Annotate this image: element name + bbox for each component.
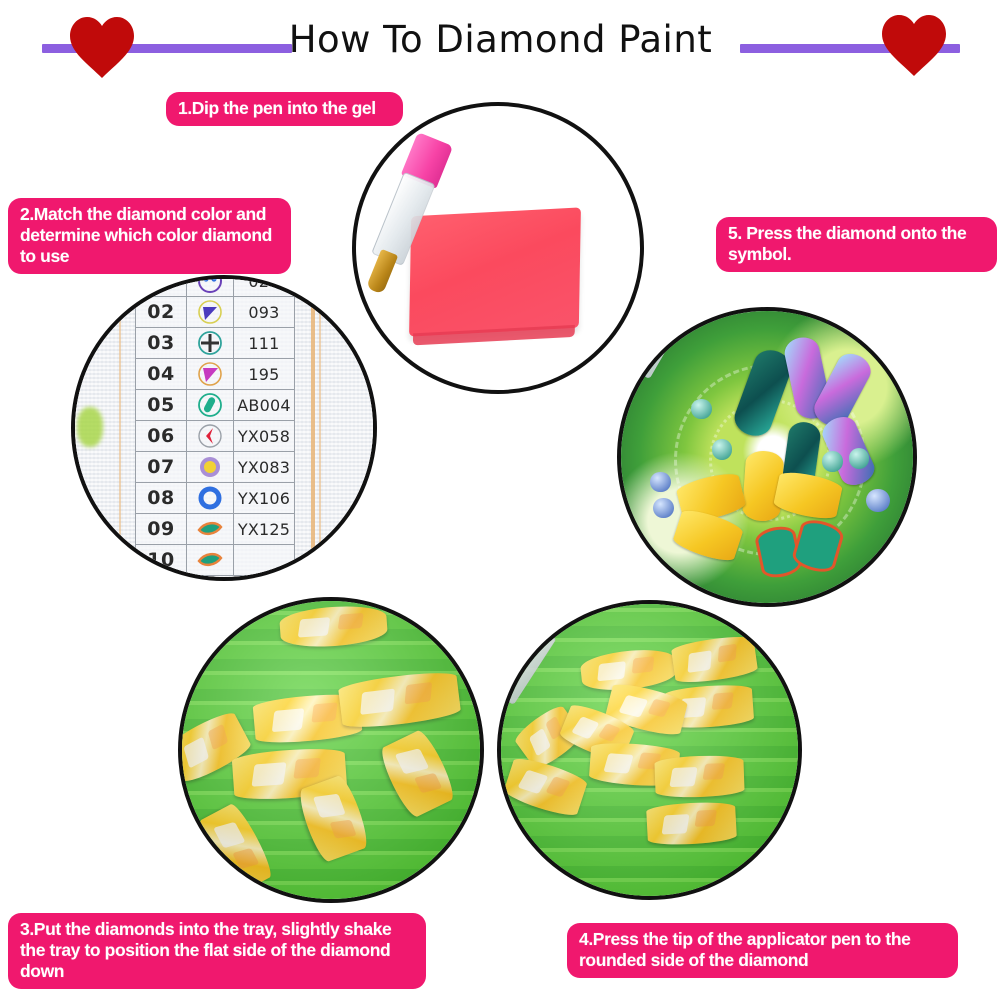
legend-code-cell: YX058 — [234, 421, 295, 452]
diagonal-bar-circle-icon — [197, 392, 223, 418]
symbol-legend-table: 0102802093031110419505AB00406YX05807YX08… — [135, 275, 295, 576]
gem-dot — [822, 451, 842, 471]
gel-scene — [356, 106, 640, 390]
gel-pad — [409, 207, 581, 336]
teal-leaf-icon — [197, 547, 223, 573]
step-3-label: 3.Put the diamonds into the tray, slight… — [8, 913, 426, 989]
canvas-green-smudge — [77, 407, 103, 447]
legend-code-cell: AB004 — [234, 390, 295, 421]
legend-code-cell: 195 — [234, 359, 295, 390]
gem-dot — [650, 472, 670, 492]
diamond — [178, 708, 254, 786]
pen-picking-up-diamond-photo — [497, 600, 802, 900]
pen-body — [497, 622, 556, 705]
left-chevron-circle-icon — [187, 421, 234, 452]
diamond — [252, 692, 363, 746]
infographic-stage: How To Diamond Paint 0102802093031110419… — [0, 0, 1001, 1001]
legend-code-cell: 028 — [234, 275, 295, 297]
yellow-dot-purple-ring-icon — [187, 452, 234, 483]
legend-row: 01028 — [136, 275, 295, 297]
legend-row: 09YX125 — [136, 514, 295, 545]
legend-row: 08YX106 — [136, 483, 295, 514]
legend-number-cell: 02 — [136, 297, 187, 328]
legend-row: 03111 — [136, 328, 295, 359]
legend-number-cell: 01 — [136, 275, 187, 297]
diamond — [337, 668, 461, 730]
diamonds-in-tray-photo — [178, 597, 484, 903]
step-4-label: 4.Press the tip of the applicator pen to… — [567, 923, 958, 978]
legend-code-cell: YX125 — [234, 514, 295, 545]
legend-number-cell: 08 — [136, 483, 187, 514]
diamond — [512, 702, 586, 772]
legend-number-cell: 06 — [136, 421, 187, 452]
diamond — [579, 646, 677, 694]
magenta-triangle-circle-icon — [197, 361, 223, 387]
filled-triangle-circle-icon — [197, 299, 223, 325]
smiley-face-circle-icon — [197, 275, 223, 294]
legend-row: 06YX058 — [136, 421, 295, 452]
legend-row: 04195 — [136, 359, 295, 390]
diamond — [604, 680, 689, 738]
diamond — [646, 800, 737, 845]
legend-number-cell: 09 — [136, 514, 187, 545]
legend-code-cell: YX106 — [234, 483, 295, 514]
legend-number-cell: 05 — [136, 390, 187, 421]
legend-code-cell: YX083 — [234, 452, 295, 483]
gem-dot — [712, 439, 732, 459]
page-title: How To Diamond Paint — [0, 18, 1001, 61]
chart-orange-edge-line — [319, 279, 321, 577]
teal-leaf-icon — [197, 516, 223, 542]
symbol-color-chart-photo: 0102802093031110419505AB00406YX05807YX08… — [71, 275, 377, 581]
pen-tip — [617, 363, 648, 402]
gem-dot — [691, 399, 711, 419]
pen-dipping-into-gel-photo — [352, 102, 644, 394]
diagonal-bar-circle-icon — [187, 390, 234, 421]
legend-code-cell — [234, 545, 295, 576]
plus-cross-circle-icon — [187, 328, 234, 359]
legend-row: 05AB004 — [136, 390, 295, 421]
chart-margin-line — [119, 279, 121, 577]
mandala-canvas-scene — [621, 311, 913, 603]
diamond — [279, 603, 389, 649]
legend-row: 02093 — [136, 297, 295, 328]
step-2-label: 2.Match the diamond color and determine … — [8, 198, 291, 274]
legend-code-cell: 111 — [234, 328, 295, 359]
magenta-triangle-circle-icon — [187, 359, 234, 390]
diamond — [671, 633, 759, 685]
chart-scene: 0102802093031110419505AB00406YX05807YX08… — [75, 279, 373, 577]
pressing-diamond-onto-canvas-photo — [617, 307, 917, 607]
yellow-dot-purple-ring-icon — [197, 454, 223, 480]
legend-row: 07YX083 — [136, 452, 295, 483]
diamond — [558, 701, 637, 764]
step-5-label: 5. Press the diamond onto the symbol. — [716, 217, 997, 272]
legend-number-cell: 10 — [136, 545, 187, 576]
diamond — [296, 773, 373, 864]
filled-triangle-circle-icon — [187, 297, 234, 328]
gem-dot — [653, 498, 673, 518]
teal-leaf-icon — [187, 545, 234, 576]
diamond — [589, 741, 681, 788]
tray-scene — [501, 604, 798, 896]
plus-cross-circle-icon — [197, 330, 223, 356]
teal-leaf-icon — [187, 514, 234, 545]
gem-dot — [849, 448, 869, 468]
diamond — [663, 683, 755, 730]
blue-donut-icon — [197, 485, 223, 511]
blue-donut-icon — [187, 483, 234, 514]
diamond — [502, 754, 589, 820]
left-chevron-circle-icon — [197, 423, 223, 449]
chart-orange-edge-line — [311, 279, 315, 577]
step-1-label: 1.Dip the pen into the gel — [166, 92, 403, 126]
pen-tip — [497, 686, 512, 727]
legend-number-cell: 04 — [136, 359, 187, 390]
diamond — [195, 800, 276, 896]
legend-number-cell: 03 — [136, 328, 187, 359]
diamond — [231, 746, 347, 801]
header-band: How To Diamond Paint — [0, 0, 1001, 78]
tray-scene — [182, 601, 480, 899]
diamond — [376, 727, 458, 820]
legend-row: 10 — [136, 545, 295, 576]
canvas-teal-symbol — [79, 517, 107, 543]
gem-dot — [866, 489, 889, 512]
legend-number-cell: 07 — [136, 452, 187, 483]
diamond — [655, 754, 745, 798]
legend-code-cell: 093 — [234, 297, 295, 328]
smiley-face-circle-icon — [187, 275, 234, 297]
